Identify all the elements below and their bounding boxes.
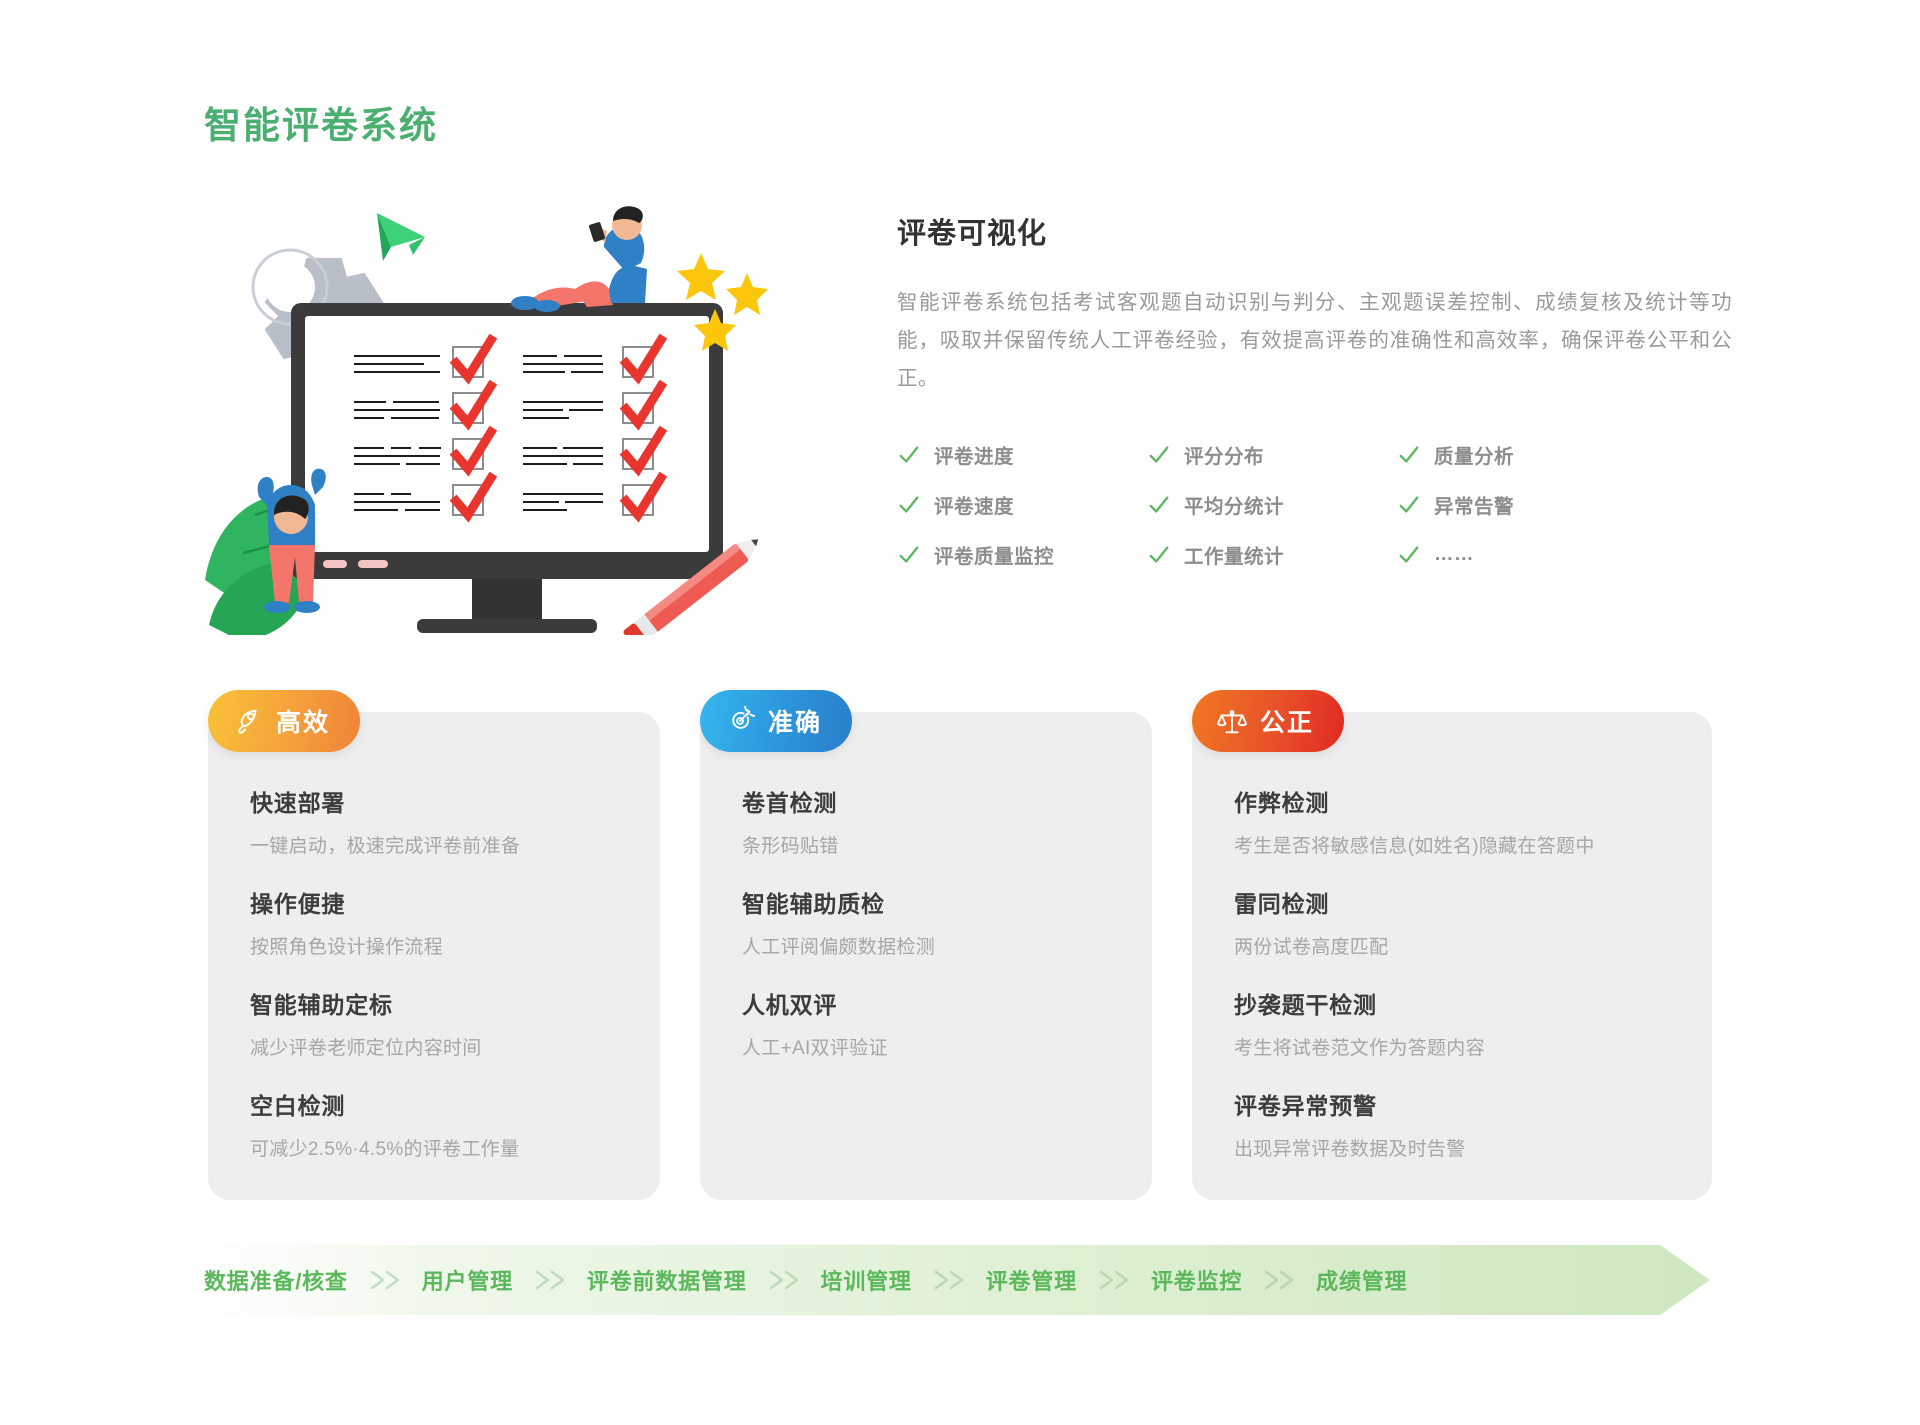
feature-desc: 可减少2.5%·4.5%的评卷工作量 [250, 1134, 660, 1161]
feature-desc: 考生将试卷范文作为答题内容 [1234, 1033, 1712, 1060]
checklist-item: …… [1398, 540, 1648, 569]
rocket-icon [233, 706, 263, 736]
check-icon [898, 444, 920, 466]
checklist-item: 评卷进度 [898, 440, 1148, 469]
feature-checklist: 评卷进度 评分分布 质量分析 评卷速度 平均分统计 异常告警 评卷质量监控 工 [898, 440, 1648, 569]
checklist-item-label: 异常告警 [1434, 490, 1514, 519]
card-body: 快速部署 一键启动，极速完成评卷前准备 操作便捷 按照角色设计操作流程 智能辅助… [208, 712, 660, 1161]
intro-paragraph: 智能评卷系统包括考试客观题自动识别与判分、主观题误差控制、成绩复核及统计等功能，… [897, 284, 1732, 398]
target-icon [725, 706, 755, 736]
checklist-item: 评卷质量监控 [898, 540, 1148, 569]
checklist-item-label: 评卷速度 [934, 490, 1014, 519]
badge-efficiency: 高效 [208, 690, 360, 752]
flow-step[interactable]: 评卷监控 [1151, 1264, 1242, 1296]
feature-item: 快速部署 一键启动，极速完成评卷前准备 [250, 784, 660, 858]
checklist-item: 质量分析 [1398, 440, 1648, 469]
checklist-item-label: 平均分统计 [1184, 490, 1284, 519]
check-icon [1148, 544, 1170, 566]
flow-steps: 数据准备/核查 用户管理 评卷前数据管理 培训管理 评卷管理 评卷监控 成绩管理 [190, 1245, 1710, 1315]
check-icon [1398, 544, 1420, 566]
card-accuracy: 准确 卷首检测 条形码贴错 智能辅助质检 人工评阅偏颇数据检测 人机双评 人工+… [700, 712, 1152, 1200]
check-icon [898, 494, 920, 516]
checklist-item-label: 工作量统计 [1184, 540, 1284, 569]
double-chevron-right-icon [912, 1268, 986, 1292]
check-icon [898, 544, 920, 566]
flow-step[interactable]: 评卷前数据管理 [587, 1264, 747, 1296]
process-flow-bar: 数据准备/核查 用户管理 评卷前数据管理 培训管理 评卷管理 评卷监控 成绩管理 [190, 1245, 1710, 1315]
checklist-item: 工作量统计 [1148, 540, 1398, 569]
badge-label: 高效 [276, 703, 330, 739]
double-chevron-right-icon [747, 1268, 821, 1292]
checklist-item-label: 评卷进度 [934, 440, 1014, 469]
badge-label: 公正 [1260, 703, 1314, 739]
feature-title: 作弊检测 [1234, 784, 1712, 818]
checklist-item: 评分分布 [1148, 440, 1398, 469]
feature-title: 雷同检测 [1234, 885, 1712, 919]
checklist-item-label: …… [1434, 543, 1474, 566]
feature-desc: 一键启动，极速完成评卷前准备 [250, 831, 660, 858]
badge-label: 准确 [768, 703, 822, 739]
feature-desc: 人工评阅偏颇数据检测 [742, 932, 1152, 959]
check-icon [1148, 444, 1170, 466]
feature-title: 评卷异常预警 [1234, 1087, 1712, 1121]
checklist-item: 平均分统计 [1148, 490, 1398, 519]
feature-item: 人机双评 人工+AI双评验证 [742, 986, 1152, 1060]
feature-item: 雷同检测 两份试卷高度匹配 [1234, 885, 1712, 959]
feature-title: 快速部署 [250, 784, 660, 818]
feature-title: 智能辅助定标 [250, 986, 660, 1020]
feature-title: 操作便捷 [250, 885, 660, 919]
checklist-item-label: 评分分布 [1184, 440, 1264, 469]
feature-title: 空白检测 [250, 1087, 660, 1121]
feature-item: 评卷异常预警 出现异常评卷数据及时告警 [1234, 1087, 1712, 1161]
feature-item: 智能辅助质检 人工评阅偏颇数据检测 [742, 885, 1152, 959]
feature-title: 卷首检测 [742, 784, 1152, 818]
feature-item: 智能辅助定标 减少评卷老师定位内容时间 [250, 986, 660, 1060]
check-icon [1148, 494, 1170, 516]
feature-desc: 条形码贴错 [742, 831, 1152, 858]
flow-step[interactable]: 数据准备/核查 [204, 1264, 348, 1296]
feature-desc: 考生是否将敏感信息(如姓名)隐藏在答题中 [1234, 831, 1712, 858]
card-efficiency: 高效 快速部署 一键启动，极速完成评卷前准备 操作便捷 按照角色设计操作流程 智… [208, 712, 660, 1200]
feature-title: 抄袭题干检测 [1234, 986, 1712, 1020]
feature-desc: 按照角色设计操作流程 [250, 932, 660, 959]
feature-desc: 出现异常评卷数据及时告警 [1234, 1134, 1712, 1161]
person-sitting-with-phone [511, 206, 647, 312]
feature-desc: 两份试卷高度匹配 [1234, 932, 1712, 959]
flow-step[interactable]: 培训管理 [821, 1264, 912, 1296]
checklist-item-label: 质量分析 [1434, 440, 1514, 469]
flow-step[interactable]: 成绩管理 [1316, 1264, 1407, 1296]
flow-step[interactable]: 用户管理 [422, 1264, 513, 1296]
checklist-item: 异常告警 [1398, 490, 1648, 519]
checklist-item: 评卷速度 [898, 490, 1148, 519]
flow-step[interactable]: 评卷管理 [986, 1264, 1077, 1296]
feature-item: 操作便捷 按照角色设计操作流程 [250, 885, 660, 959]
card-fairness: 公正 作弊检测 考生是否将敏感信息(如姓名)隐藏在答题中 雷同检测 两份试卷高度… [1192, 712, 1712, 1200]
double-chevron-right-icon [1242, 1268, 1316, 1292]
badge-fairness: 公正 [1192, 690, 1344, 752]
feature-title: 智能辅助质检 [742, 885, 1152, 919]
feature-desc: 人工+AI双评验证 [742, 1033, 1152, 1060]
intro-block: 评卷可视化 智能评卷系统包括考试客观题自动识别与判分、主观题误差控制、成绩复核及… [897, 210, 1732, 398]
badge-accuracy: 准确 [700, 690, 852, 752]
double-chevron-right-icon [1077, 1268, 1151, 1292]
feature-item: 空白检测 可减少2.5%·4.5%的评卷工作量 [250, 1087, 660, 1161]
card-body: 卷首检测 条形码贴错 智能辅助质检 人工评阅偏颇数据检测 人机双评 人工+AI双… [700, 712, 1152, 1060]
feature-desc: 减少评卷老师定位内容时间 [250, 1033, 660, 1060]
double-chevron-right-icon [348, 1268, 422, 1292]
feature-title: 人机双评 [742, 986, 1152, 1020]
paper-plane-icon [377, 213, 425, 261]
checklist-item-label: 评卷质量监控 [934, 540, 1054, 569]
check-icon [1398, 494, 1420, 516]
card-body: 作弊检测 考生是否将敏感信息(如姓名)隐藏在答题中 雷同检测 两份试卷高度匹配 … [1192, 712, 1712, 1161]
feature-item: 卷首检测 条形码贴错 [742, 784, 1152, 858]
feature-cards: 高效 快速部署 一键启动，极速完成评卷前准备 操作便捷 按照角色设计操作流程 智… [0, 690, 1920, 1200]
scales-icon [1217, 706, 1247, 736]
grading-system-illustration [195, 185, 795, 635]
double-chevron-right-icon [513, 1268, 587, 1292]
check-icon [1398, 444, 1420, 466]
intro-heading: 评卷可视化 [897, 210, 1732, 252]
page-title: 智能评卷系统 [204, 95, 438, 149]
poster-root: 智能评卷系统 [0, 0, 1920, 1425]
feature-item: 作弊检测 考生是否将敏感信息(如姓名)隐藏在答题中 [1234, 784, 1712, 858]
feature-item: 抄袭题干检测 考生将试卷范文作为答题内容 [1234, 986, 1712, 1060]
